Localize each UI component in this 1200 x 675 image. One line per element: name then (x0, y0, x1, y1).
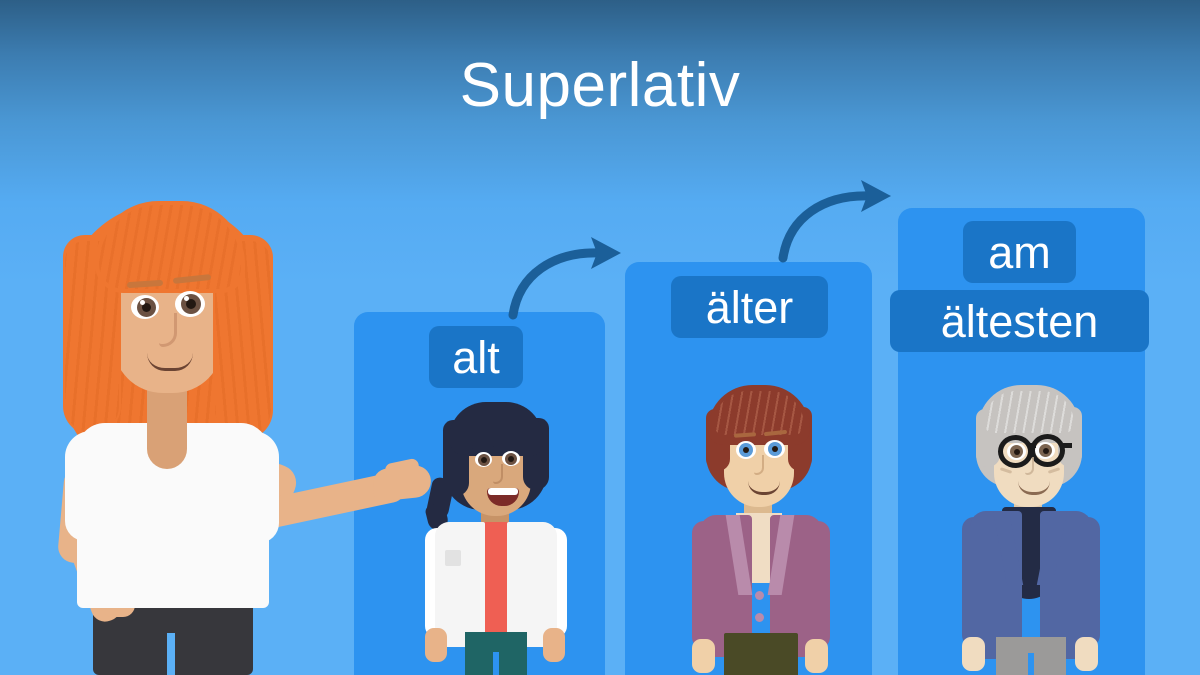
young-pupil-right (508, 456, 514, 462)
oldest-hair-shading (984, 391, 1074, 433)
older-nose (754, 455, 764, 475)
glasses-icon-bridge (1030, 443, 1036, 448)
label-aeltesten: ältesten (890, 290, 1149, 352)
teacher-eye-glint-left (140, 300, 145, 305)
young-fringe (449, 402, 543, 456)
character-teacher (55, 195, 415, 675)
older-pupil-right (772, 446, 778, 452)
young-pants-gap (493, 652, 499, 675)
arrow-aelter-to-aeltesten (775, 178, 905, 263)
oldest-hand-left (962, 637, 985, 671)
young-hand-right (543, 628, 565, 662)
young-jacket-pocket (445, 550, 461, 566)
glasses-icon-right-lens (1030, 434, 1065, 467)
character-person-oldest (950, 385, 1110, 675)
young-pupil-left (481, 457, 487, 463)
page-title: Superlativ (0, 55, 1200, 117)
arrow-alt-to-aelter (505, 235, 635, 320)
oldest-hand-right (1075, 637, 1098, 671)
oldest-pants-gap (1028, 653, 1034, 675)
teacher-pants-gap (167, 633, 175, 675)
teacher-eye-glint-right (184, 296, 189, 301)
glasses-icon-temple (1062, 443, 1072, 448)
older-hand-right (805, 639, 828, 673)
older-hand-left (692, 639, 715, 673)
older-button-lower (755, 613, 764, 622)
older-skirt (724, 633, 798, 675)
label-alt: alt (429, 326, 523, 388)
oldest-nose (1025, 457, 1034, 475)
older-pupil-left (743, 447, 749, 453)
young-teeth (488, 488, 518, 495)
older-hair-shading (714, 391, 804, 435)
young-hand-left (425, 628, 447, 662)
teacher-vneck (147, 421, 187, 469)
character-person-older (680, 385, 840, 675)
slide-canvas: Superlativ alt älter am ältesten (0, 0, 1200, 675)
young-nose (493, 464, 503, 484)
label-am: am (963, 221, 1076, 283)
older-button-upper (755, 591, 764, 600)
character-person-young (415, 400, 575, 675)
label-aelter: älter (671, 276, 828, 338)
